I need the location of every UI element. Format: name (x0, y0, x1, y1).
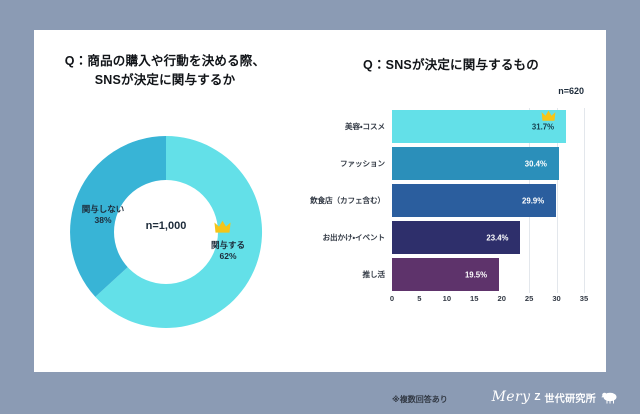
donut-panel: Q：商品の購入や行動を決める際、 SNSが決定に関与するか 関与しない 38% … (34, 30, 296, 372)
x-axis-tick: 0 (390, 294, 394, 303)
donut-title-line-1: Q：商品の購入や行動を決める際、 (42, 52, 288, 71)
bar-value-label: 19.5% (465, 270, 487, 279)
x-axis: 05101520253035 (392, 294, 606, 308)
bar-panel-title: Q：SNSが決定に関与するもの (296, 56, 606, 75)
bar-category-label: 推し活 (296, 269, 392, 280)
bar-rows: 美容・コスメ31.7%ファッション30.4%飲食店（カフェ含む）29.9%お出か… (296, 108, 606, 293)
bar-panel: Q：SNSが決定に関与するもの n=620 美容・コスメ31.7%ファッション3… (296, 30, 606, 372)
donut-label-yes-value: 62% (197, 251, 259, 262)
sheep-icon (600, 391, 620, 404)
donut-panel-title: Q：商品の購入や行動を決める際、 SNSが決定に関与するか (42, 52, 288, 91)
donut-title-line-2: SNSが決定に関与するか (42, 71, 288, 90)
bar-category-label: 美容・コスメ (296, 121, 392, 132)
bar-track: 23.4% (392, 221, 606, 254)
bar-value-label: 29.9% (522, 196, 544, 205)
x-axis-tick: 10 (443, 294, 451, 303)
brand-generation: Z (534, 392, 540, 403)
crown-icon (214, 220, 231, 234)
content-card: Q：商品の購入や行動を決める際、 SNSが決定に関与するか 関与しない 38% … (34, 30, 606, 372)
bar-row: ファッション30.4% (296, 145, 606, 182)
donut-label-no-text: 関与しない (72, 204, 134, 215)
bar-category-label: お出かけ・イベント (296, 232, 392, 243)
x-axis-tick: 20 (497, 294, 505, 303)
bar-chart: 美容・コスメ31.7%ファッション30.4%飲食店（カフェ含む）29.9%お出か… (296, 108, 606, 308)
footer-logo: Mery Z 世代研究所 (492, 389, 620, 405)
donut-svg (66, 132, 266, 332)
bar-track: 30.4% (392, 147, 606, 180)
bar-category-label: ファッション (296, 158, 392, 169)
bar-track: 29.9% (392, 184, 606, 217)
donut-chart: 関与しない 38% 関与する 62% n=1,000 (66, 132, 266, 332)
bar-category-label: 飲食店（カフェ含む） (296, 195, 392, 206)
bar-value-label: 23.4% (486, 233, 508, 242)
donut-label-yes-text: 関与する (197, 240, 259, 251)
bar-value-label: 31.7% (532, 122, 554, 131)
x-axis-tick: 25 (525, 294, 533, 303)
x-axis-tick: 35 (580, 294, 588, 303)
crown-icon (541, 110, 556, 122)
x-axis-tick: 30 (552, 294, 560, 303)
donut-hole (114, 180, 218, 284)
bar-row: 推し活19.5% (296, 256, 606, 293)
x-axis-tick: 5 (417, 294, 421, 303)
bar-sample-size-label: n=620 (558, 86, 584, 96)
donut-label-yes: 関与する 62% (197, 240, 259, 263)
x-axis-tick: 15 (470, 294, 478, 303)
bar-track: 19.5% (392, 258, 606, 291)
brand-name: Mery (492, 389, 531, 405)
bar-row: 飲食店（カフェ含む）29.9% (296, 182, 606, 219)
bar-value-label: 30.4% (525, 159, 547, 168)
brand-lab-name: 世代研究所 (545, 390, 597, 405)
bar-footnote: ※複数回答あり (392, 394, 448, 405)
bar-track: 31.7% (392, 110, 606, 143)
bar-row: 美容・コスメ31.7% (296, 108, 606, 145)
bar-row: お出かけ・イベント23.4% (296, 219, 606, 256)
donut-center-label: n=1,000 (116, 220, 216, 232)
